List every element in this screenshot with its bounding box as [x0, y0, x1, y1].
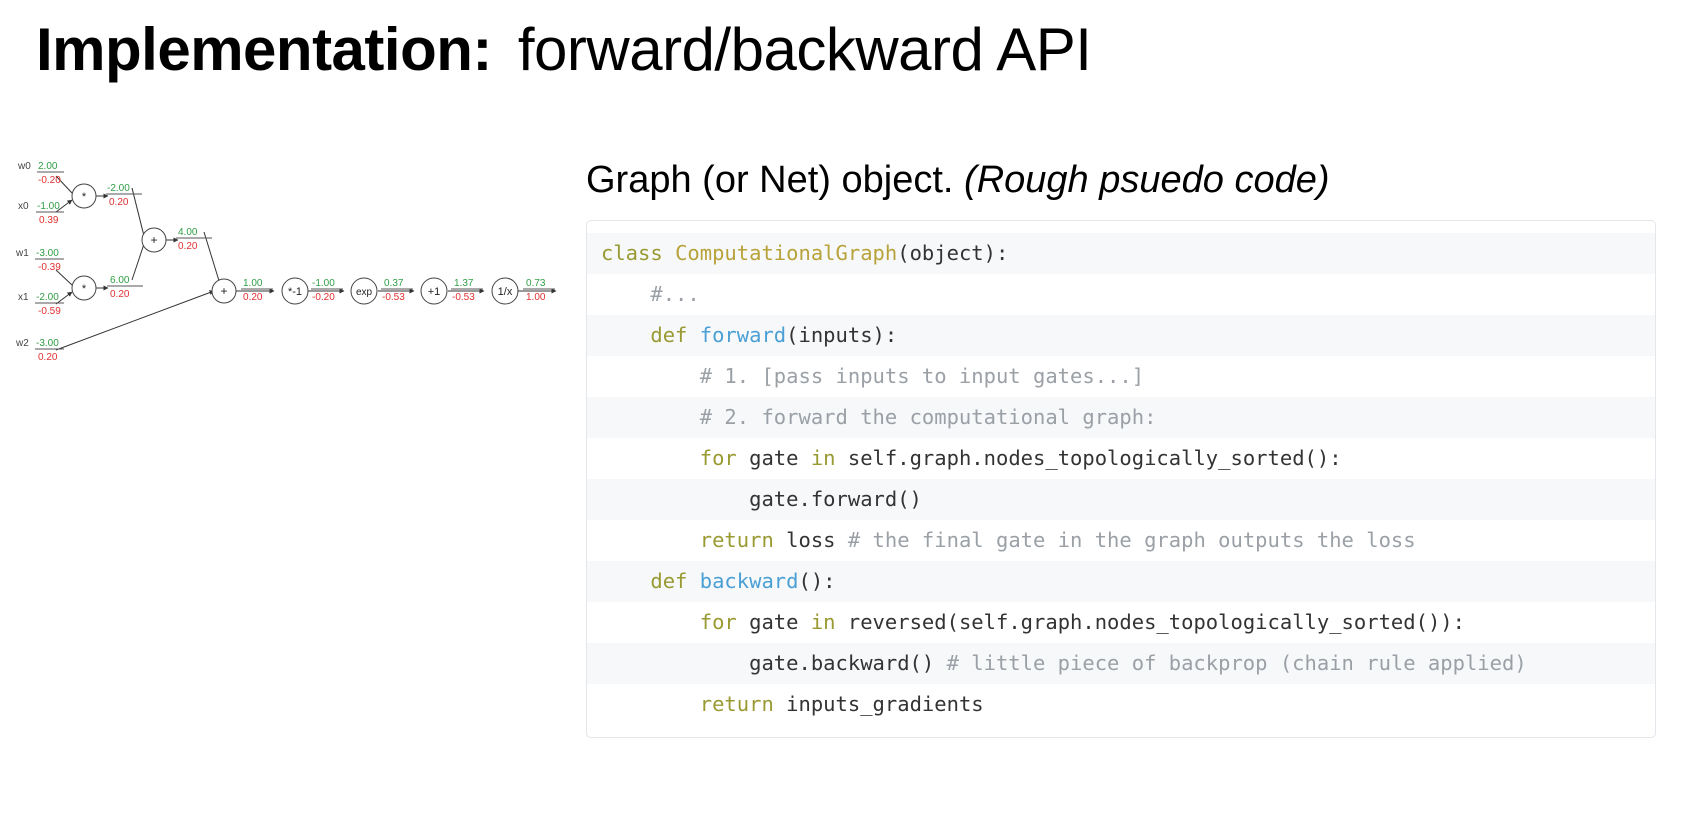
computational-graph-figure: w0 2.00 -0.20 x0 -1.00 0.39 w1 -3.00 -0.…	[8, 152, 560, 367]
edge-value-add0: 4.00	[178, 227, 198, 238]
code-line: for gate in self.graph.nodes_topological…	[587, 438, 1655, 479]
code-line: class ComputationalGraph(object):	[587, 233, 1655, 274]
graph-input-w2: w2 -3.00 0.20	[15, 338, 64, 363]
edge-value-neg: -1.00	[312, 278, 335, 289]
graph-node-exp: exp	[351, 278, 377, 304]
right-panel-heading-regular: Graph (or Net) object.	[586, 159, 953, 201]
node-op-add0: +	[150, 233, 157, 247]
node-op-neg: *-1	[288, 286, 302, 298]
input-label-x1: x1	[18, 292, 29, 303]
input-grad-x1: -0.59	[38, 306, 61, 317]
code-token: return	[700, 692, 786, 716]
edge-grad-exp: -0.53	[382, 292, 405, 303]
input-value-w1: -3.00	[36, 248, 59, 259]
edge-grad-add1: 0.20	[243, 292, 263, 303]
code-token: forward	[700, 323, 786, 347]
code-block: class ComputationalGraph(object): #... d…	[586, 220, 1656, 738]
code-line: # 2. forward the computational graph:	[587, 397, 1655, 438]
code-line: gate.forward()	[587, 479, 1655, 520]
graph-node-add1: +	[212, 279, 236, 303]
right-panel-heading-italic: (Rough psuedo code)	[964, 159, 1329, 201]
code-token: (object):	[897, 241, 1008, 265]
edge-value-inv: 0.73	[526, 278, 546, 289]
page-title: Implementation:forward/backward API	[36, 14, 1091, 86]
graph-input-w1: w1 -3.00 -0.39	[15, 248, 64, 273]
edge-value-mul0: -2.00	[107, 183, 130, 194]
graph-input-x0: x0 -1.00 0.39	[18, 201, 64, 226]
graph-node-inv: 1/x	[492, 278, 518, 304]
node-op-add1: +	[220, 284, 227, 298]
node-op-mul1: *	[82, 283, 87, 295]
node-op-inv: 1/x	[498, 286, 513, 298]
input-label-x0: x0	[18, 201, 29, 212]
code-token: inputs_gradients	[786, 692, 983, 716]
graph-input-w0: w0 2.00 -0.20	[17, 161, 64, 186]
graph-node-plus1: +1	[421, 278, 447, 304]
input-grad-w0: -0.20	[38, 175, 61, 186]
code-token: # 2. forward the computational graph:	[700, 405, 1157, 429]
code-token: backward	[700, 569, 799, 593]
edge-grad-neg: -0.20	[312, 292, 335, 303]
code-token: for	[700, 446, 749, 470]
code-line: gate.backward() # little piece of backpr…	[587, 643, 1655, 684]
graph-edge-label-mul0: -2.00 0.20	[106, 183, 142, 208]
code-token: gate.forward()	[749, 487, 922, 511]
edge-grad-mul0: 0.20	[109, 197, 129, 208]
edge-value-add1: 1.00	[243, 278, 263, 289]
code-line: def backward():	[587, 561, 1655, 602]
code-token: self.graph.nodes_topologically_sorted():	[848, 446, 1342, 470]
node-op-exp: exp	[356, 287, 373, 298]
code-token: reversed(self.graph.nodes_topologically_…	[848, 610, 1465, 634]
code-line: # 1. [pass inputs to input gates...]	[587, 356, 1655, 397]
code-token: return	[700, 528, 786, 552]
input-label-w2: w2	[15, 338, 29, 349]
input-label-w1: w1	[15, 248, 29, 259]
code-line: #...	[587, 274, 1655, 315]
code-token: in	[811, 446, 848, 470]
graph-edge-label-mul1: 6.00 0.20	[107, 275, 143, 300]
code-token: gate	[749, 446, 811, 470]
code-token: # little piece of backprop (chain rule a…	[947, 651, 1527, 675]
code-token: def	[650, 323, 699, 347]
code-token: ():	[799, 569, 836, 593]
code-token: (inputs):	[786, 323, 897, 347]
code-line: def forward(inputs):	[587, 315, 1655, 356]
code-token: # 1. [pass inputs to input gates...]	[700, 364, 1144, 388]
code-line: for gate in reversed(self.graph.nodes_to…	[587, 602, 1655, 643]
input-value-x1: -2.00	[36, 292, 59, 303]
code-token: in	[811, 610, 848, 634]
input-value-w0: 2.00	[38, 161, 58, 172]
edge-value-mul1: 6.00	[110, 275, 130, 286]
code-token: gate	[749, 610, 811, 634]
input-grad-w2: 0.20	[38, 352, 58, 363]
code-token: def	[650, 569, 699, 593]
code-token: #...	[650, 282, 699, 306]
edge-grad-plus1: -0.53	[452, 292, 475, 303]
graph-node-mul1: *	[72, 276, 96, 300]
graph-node-mul0: *	[72, 184, 96, 208]
graph-node-neg: *-1	[282, 278, 308, 304]
input-grad-x0: 0.39	[39, 215, 59, 226]
code-line: return inputs_gradients	[587, 684, 1655, 725]
computational-graph-svg: w0 2.00 -0.20 x0 -1.00 0.39 w1 -3.00 -0.…	[8, 152, 560, 367]
edge-grad-inv: 1.00	[526, 292, 546, 303]
graph-node-add0: +	[142, 228, 166, 252]
edge-value-exp: 0.37	[384, 278, 404, 289]
page-title-rest: forward/backward API	[518, 16, 1092, 83]
code-token: for	[700, 610, 749, 634]
code-line: return loss # the final gate in the grap…	[587, 520, 1655, 561]
edge-grad-add0: 0.20	[178, 241, 198, 252]
code-token: loss	[786, 528, 848, 552]
input-value-x0: -1.00	[37, 201, 60, 212]
code-token: gate.backward()	[749, 651, 946, 675]
node-op-mul0: *	[82, 191, 87, 203]
input-grad-w1: -0.39	[38, 262, 61, 273]
page-title-bold: Implementation:	[36, 16, 492, 83]
input-label-w0: w0	[17, 161, 31, 172]
edge-grad-mul1: 0.20	[110, 289, 130, 300]
node-op-plus1: +1	[428, 286, 441, 298]
graph-input-x1: x1 -2.00 -0.59	[18, 292, 64, 317]
code-token: ComputationalGraph	[675, 241, 897, 265]
edge-value-plus1: 1.37	[454, 278, 474, 289]
code-token: class	[601, 241, 675, 265]
input-value-w2: -3.00	[36, 338, 59, 349]
code-token: # the final gate in the graph outputs th…	[848, 528, 1416, 552]
right-panel-heading: Graph (or Net) object. (Rough psuedo cod…	[586, 156, 1330, 204]
